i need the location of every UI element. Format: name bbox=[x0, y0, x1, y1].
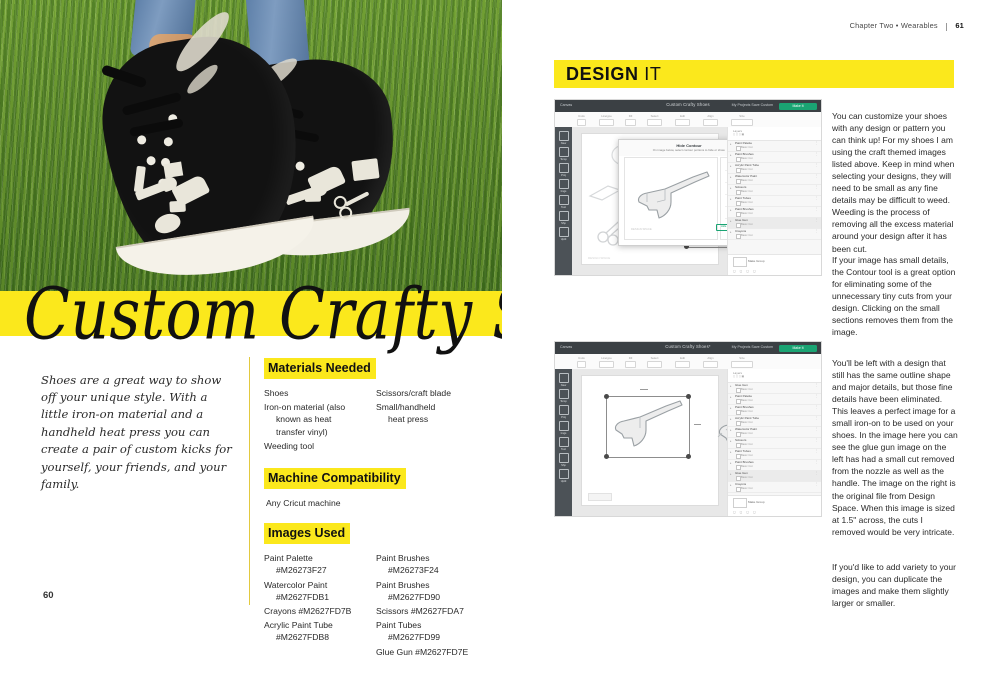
screenshot-design-space-contour: Canvas Custom Crafty Shoes My Projects S… bbox=[554, 99, 822, 276]
ds2-layers-header: Layers ◻ ◻ ◻ ▣ bbox=[728, 369, 821, 383]
body-paragraph-4: If you'd like to add variety to your des… bbox=[832, 561, 958, 609]
ds2-selection-box[interactable] bbox=[606, 396, 690, 458]
ds1-account-menu[interactable]: My Projects Save Custom bbox=[732, 103, 773, 107]
shoe-icon-paint-tube bbox=[163, 162, 183, 179]
ds2-title-bar: Canvas Custom Crafty Shoes* My Projects … bbox=[555, 342, 821, 354]
ds2-mat bbox=[581, 375, 719, 506]
section-materials-needed: Materials Needed Shoes Iron-on material … bbox=[264, 358, 479, 454]
list-item: Iron-on material (alsoknown as heattrans… bbox=[264, 401, 364, 438]
ds2-zoom-control[interactable] bbox=[588, 493, 612, 501]
ds2-layer-actions[interactable]: ◻ ◻ ◻ ▣ bbox=[733, 375, 744, 378]
layer-row[interactable]: ▸CrayonsBasic Cut⋮ bbox=[728, 481, 821, 493]
ds2-account-menu[interactable]: My Projects Save Custom bbox=[732, 345, 773, 349]
list-item: Scissors/craft blade bbox=[376, 387, 476, 399]
section-images-used: Images Used Paint Palette#M26273F27 Wate… bbox=[264, 523, 479, 660]
dialog-watermark: DESIGN SPACE bbox=[631, 227, 652, 231]
images-col-1: Paint Palette#M26273F27 Watercolor Paint… bbox=[264, 552, 364, 660]
list-item: Shoes bbox=[264, 387, 364, 399]
list-item: Paint Brushes#M26273F24 bbox=[376, 552, 476, 576]
ds2-toolbar[interactable]: Undo Linetype Fill Select Edit Align Siz… bbox=[555, 354, 821, 370]
machine-compatibility-value: Any Cricut machine bbox=[266, 497, 479, 509]
materials-col-1: Shoes Iron-on material (alsoknown as hea… bbox=[264, 387, 364, 454]
list-item: Small/handheldheat press bbox=[376, 401, 476, 425]
ds1-layer-actions[interactable]: ◻ ◻ ◻ ▣ bbox=[733, 133, 744, 136]
ds1-group-label: Make Group bbox=[748, 259, 765, 263]
ds1-make-it-button[interactable]: Make It bbox=[779, 103, 817, 111]
ds2-rotate-handle[interactable] bbox=[640, 389, 648, 390]
section-machine-compatibility: Machine Compatibility Any Cricut machine bbox=[264, 468, 479, 509]
page-number-right: 61 bbox=[955, 21, 964, 30]
ds1-layers-tab[interactable]: Layers bbox=[733, 129, 742, 133]
design-it-bold: DESIGN bbox=[566, 64, 639, 84]
ds1-title-bar: Canvas Custom Crafty Shoes My Projects S… bbox=[555, 100, 821, 112]
left-page: Custom Crafty Shoes Shoes are a great wa… bbox=[0, 0, 502, 625]
ds1-canvas[interactable]: DESIGN SPACE Hide Contour On image below… bbox=[572, 127, 728, 275]
ds1-layers-panel[interactable]: Layers ◻ ◻ ◻ ▣ ▸Paint PaletteBasic Cut⋮ … bbox=[727, 127, 821, 275]
ds2-group-swatch[interactable] bbox=[733, 498, 747, 508]
ds2-layers-tab[interactable]: Layers bbox=[733, 371, 742, 375]
body-paragraph-2: If your image has small details, the Con… bbox=[832, 254, 958, 339]
list-item: Crayons #M2627FD7B bbox=[264, 605, 364, 617]
ds1-project-title: Custom Crafty Shoes bbox=[666, 102, 710, 107]
running-head-divider bbox=[946, 23, 947, 31]
intro-paragraph: Shoes are a great way to show off your u… bbox=[41, 372, 237, 494]
list-item: Paint Tubes#M2627FD99 bbox=[376, 619, 476, 643]
page-title: Custom Crafty Shoes bbox=[24, 264, 494, 365]
shoe-icon-scissors bbox=[344, 191, 369, 206]
ds1-footer-icons[interactable]: ◻◻◻◻ bbox=[733, 269, 760, 273]
ds1-layers-footer[interactable]: Make Group ◻◻◻◻ bbox=[728, 254, 821, 275]
materials-lists: Materials Needed Shoes Iron-on material … bbox=[264, 358, 479, 674]
ds1-left-rail[interactable]: New Temp Proj Imgs Text Shp Upld bbox=[555, 127, 572, 275]
images-col-2: Paint Brushes#M26273F24 Paint Brushes#M2… bbox=[376, 552, 476, 660]
column-divider bbox=[249, 357, 250, 605]
hero-photo-custom-shoes bbox=[0, 0, 502, 298]
ds2-canvas[interactable] bbox=[572, 369, 728, 516]
shoe-icon-glue-gun-2 bbox=[171, 174, 210, 207]
design-it-label: DESIGN IT bbox=[566, 64, 661, 84]
section-heading-images: Images Used bbox=[264, 523, 350, 544]
dialog-preview[interactable]: DESIGN SPACE bbox=[624, 157, 718, 240]
list-item: Weeding tool bbox=[264, 440, 364, 452]
ds1-watermark: DESIGN SPACE bbox=[588, 256, 610, 260]
running-head: Chapter Two • Wearables 61 bbox=[850, 21, 964, 30]
ds2-layers-footer[interactable]: Make Group ◻◻◻◻ bbox=[728, 495, 821, 516]
ds2-layers-panel[interactable]: Layers ◻ ◻ ◻ ▣ ▸Glue GunBasic Cut⋮ ▸Pain… bbox=[727, 369, 821, 516]
list-item: Scissors #M2627FDA7 bbox=[376, 605, 476, 617]
body-paragraph-3: You'll be left with a design that still … bbox=[832, 357, 958, 538]
design-it-light: IT bbox=[644, 64, 661, 84]
list-item: Paint Brushes#M2627FD90 bbox=[376, 579, 476, 603]
ds2-group-label: Make Group bbox=[748, 500, 765, 504]
ds2-project-title: Custom Crafty Shoes* bbox=[665, 344, 710, 349]
section-heading-materials: Materials Needed bbox=[264, 358, 376, 379]
ds2-size-handle[interactable] bbox=[694, 424, 701, 425]
layer-row[interactable]: ▸CrayonsBasic Cut⋮ bbox=[728, 228, 821, 240]
list-item: Glue Gun #M2627FD7E bbox=[376, 646, 476, 658]
materials-col-2: Scissors/craft blade Small/handheldheat … bbox=[376, 387, 476, 454]
ds1-canvas-menu[interactable]: Canvas bbox=[560, 103, 572, 107]
ds1-layers-header: Layers ◻ ◻ ◻ ▣ bbox=[728, 127, 821, 141]
ds1-group-swatch[interactable] bbox=[733, 257, 747, 267]
list-item: Acrylic Paint Tube#M2627FDB8 bbox=[264, 619, 364, 643]
shoe-icon-palette bbox=[152, 211, 182, 236]
running-head-text: Chapter Two • Wearables bbox=[850, 21, 938, 30]
ds2-make-it-button[interactable]: Make It bbox=[779, 345, 817, 353]
ds2-left-rail[interactable]: New Temp Proj Imgs Text Shp Upld bbox=[555, 369, 572, 516]
list-item: Paint Palette#M26273F27 bbox=[264, 552, 364, 576]
ds1-toolbar[interactable]: Undo Linetype Fill Select Edit Align Siz… bbox=[555, 112, 821, 128]
shoe-icon-paint-tubes bbox=[351, 158, 379, 181]
body-paragraph-1: You can customize your shoes with any de… bbox=[832, 110, 958, 255]
ds2-footer-icons[interactable]: ◻◻◻◻ bbox=[733, 510, 760, 514]
list-item: Watercolor Paint#M2627FDB1 bbox=[264, 579, 364, 603]
section-heading-machine: Machine Compatibility bbox=[264, 468, 406, 489]
ds2-canvas-menu[interactable]: Canvas bbox=[560, 345, 572, 349]
screenshot-design-space-result: Canvas Custom Crafty Shoes* My Projects … bbox=[554, 341, 822, 517]
page-number-left: 60 bbox=[43, 590, 54, 601]
dialog-glue-gun-preview[interactable] bbox=[631, 168, 713, 226]
